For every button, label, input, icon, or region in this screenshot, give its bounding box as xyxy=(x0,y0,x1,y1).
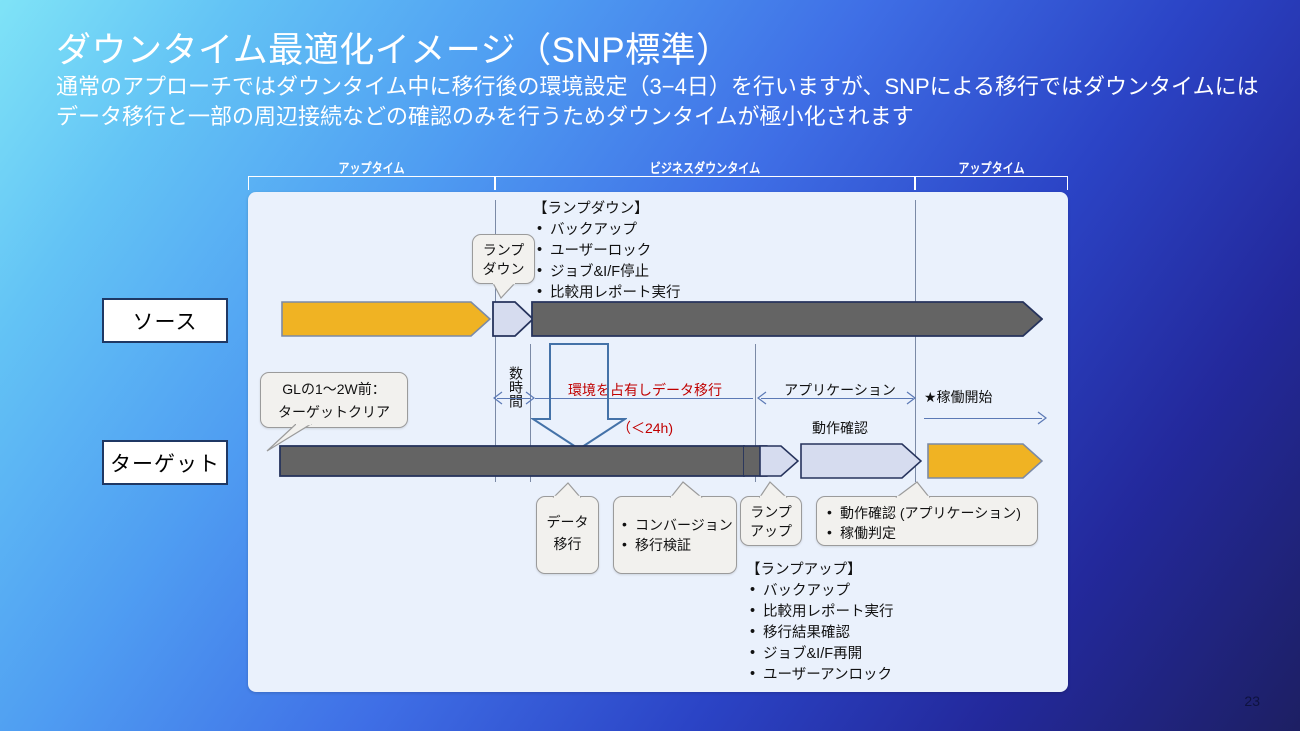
phase-bracket-uptime-2 xyxy=(915,176,1068,190)
phase-label-business-downtime: ビジネスダウンタイム xyxy=(533,157,877,177)
list-item: 動作確認 (アプリケーション) xyxy=(825,503,1029,523)
page-subtitle: 通常のアプローチではダウンタイム中に移行後の環境設定（3−4日）を行いますが、S… xyxy=(56,72,1266,132)
callout-tail-icon xyxy=(491,283,517,299)
page-title: ダウンタイム最適化イメージ（SNP標準） xyxy=(56,22,732,73)
callout-tail-icon xyxy=(758,481,788,498)
callout-data-migration-text: データ 移行 xyxy=(547,514,589,552)
source-rampdown-arrow xyxy=(492,301,534,337)
phase-bracket-uptime-1 xyxy=(248,176,495,190)
rampdown-task-list: 【ランプダウン】 バックアップ ユーザーロック ジョブ&I/F停止 比較用レポー… xyxy=(533,199,681,304)
page-number: 23 xyxy=(1244,693,1260,709)
row-label-target: ターゲット xyxy=(102,440,228,485)
measure-go-live: ★稼働開始 xyxy=(924,388,1094,407)
measure-few-hours: 数時間 xyxy=(502,366,524,408)
list-item: コンバージョン xyxy=(620,515,730,535)
target-uptime-arrow xyxy=(927,443,1043,479)
callout-data-migration: データ 移行 xyxy=(536,496,599,574)
list-item: 稼働判定 xyxy=(825,523,1029,543)
list-item: 比較用レポート実行 xyxy=(746,602,894,623)
data-migration-down-arrow-icon xyxy=(531,343,627,451)
rampup-list-header: 【ランプアップ】 xyxy=(746,560,894,581)
row-label-source: ソース xyxy=(102,298,228,343)
phase-bracket-business-downtime xyxy=(495,176,915,190)
arrowhead-left-icon xyxy=(757,391,767,405)
list-item: ジョブ&I/F停止 xyxy=(533,262,681,283)
target-appcheck-arrow xyxy=(800,443,922,479)
list-item: バックアップ xyxy=(533,220,681,241)
target-rampup-arrow xyxy=(759,445,799,477)
callout-verification: 動作確認 (アプリケーション) 稼働判定 xyxy=(816,496,1038,546)
diagram-panel: 【ランプダウン】 バックアップ ユーザーロック ジョブ&I/F停止 比較用レポー… xyxy=(248,192,1068,692)
measure-line-app-check xyxy=(761,398,913,399)
arrowhead-left-icon xyxy=(493,391,503,405)
rampdown-list-header: 【ランプダウン】 xyxy=(533,199,681,220)
measure-app-check-line2: 動作確認 xyxy=(764,419,916,438)
arrowhead-right-icon xyxy=(906,391,916,405)
rampup-task-list: 【ランプアップ】 バックアップ 比較用レポート実行 移行結果確認 ジョブ&I/F… xyxy=(746,560,894,686)
callout-tail-icon xyxy=(669,481,703,498)
source-uptime-arrow xyxy=(281,301,491,337)
callout-ramp-up-text: ランプ アップ xyxy=(750,504,792,539)
callout-ramp-down-text: ランプ ダウン xyxy=(483,242,525,277)
arrowhead-right-icon xyxy=(1037,411,1047,425)
list-item: ジョブ&I/F再開 xyxy=(746,644,894,665)
source-downtime-arrow xyxy=(531,301,1043,337)
callout-gl-clear: GLの1〜2W前： ターゲットクリア xyxy=(260,372,408,428)
list-item: 移行結果確認 xyxy=(746,623,894,644)
phase-label-uptime-1: アップタイム xyxy=(270,157,473,177)
callout-ramp-down: ランプ ダウン xyxy=(472,234,535,284)
callout-gl-clear-text: GLの1〜2W前： ターゲットクリア xyxy=(278,381,390,420)
list-item: ユーザーロック xyxy=(533,241,681,262)
callout-conversion: コンバージョン 移行検証 xyxy=(613,496,737,574)
callout-ramp-up: ランプ アップ xyxy=(740,496,802,546)
callout-tail-icon xyxy=(552,482,582,498)
target-preparation-bar xyxy=(279,445,745,477)
list-item: バックアップ xyxy=(746,581,894,602)
list-item: 移行検証 xyxy=(620,535,730,555)
measure-line-go-live xyxy=(924,418,1042,419)
callout-tail-icon xyxy=(895,481,931,498)
phase-label-uptime-2: アップタイム xyxy=(929,157,1054,177)
list-item: ユーザーアンロック xyxy=(746,665,894,686)
slide-root: ダウンタイム最適化イメージ（SNP標準） 通常のアプローチではダウンタイム中に移… xyxy=(0,0,1300,731)
